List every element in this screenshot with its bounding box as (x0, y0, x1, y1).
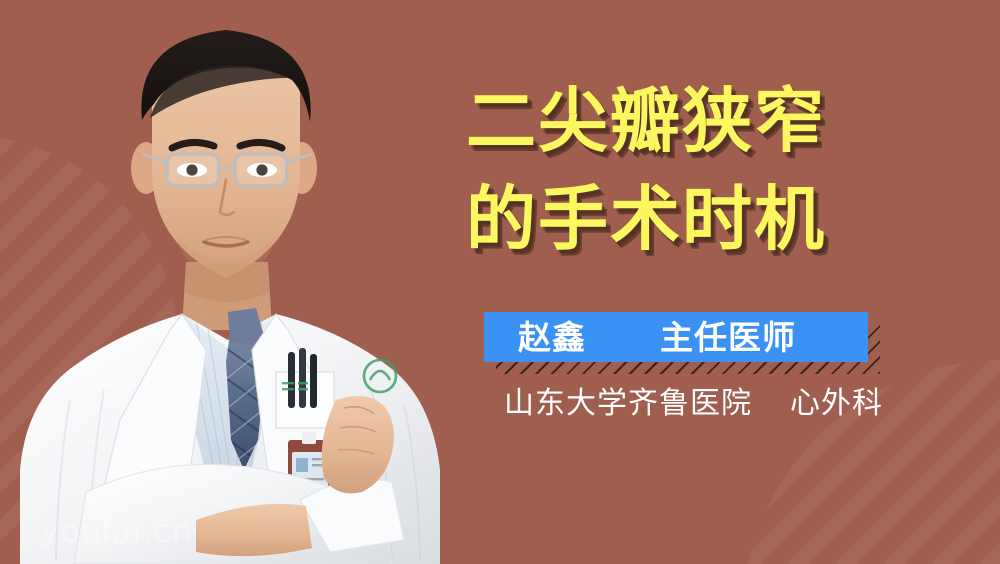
doctor-name: 赵鑫 (518, 321, 586, 354)
doctor-portrait-illustration (0, 0, 470, 564)
doctor-rank: 主任医师 (660, 321, 796, 354)
hospital-name: 山东大学齐鲁医院 (504, 386, 752, 421)
video-thumbnail-card: 二尖瓣狭窄 的手术时机 赵鑫 主任医师 山东大学齐鲁医院心外科 youlai.c… (0, 0, 1000, 564)
title-line-1: 二尖瓣狭窄 (466, 72, 886, 170)
doctor-credentials-badge: 赵鑫 主任医师 (484, 312, 868, 362)
title-line-2: 的手术时机 (466, 170, 886, 268)
doctor-portrait (0, 0, 470, 564)
page-title: 二尖瓣狭窄 的手术时机 (466, 72, 886, 268)
badge-bar: 赵鑫 主任医师 (484, 312, 868, 362)
doctor-affiliation: 山东大学齐鲁医院心外科 (504, 386, 883, 422)
department-name: 心外科 (790, 386, 883, 421)
site-watermark: youlai.cn (40, 512, 193, 550)
